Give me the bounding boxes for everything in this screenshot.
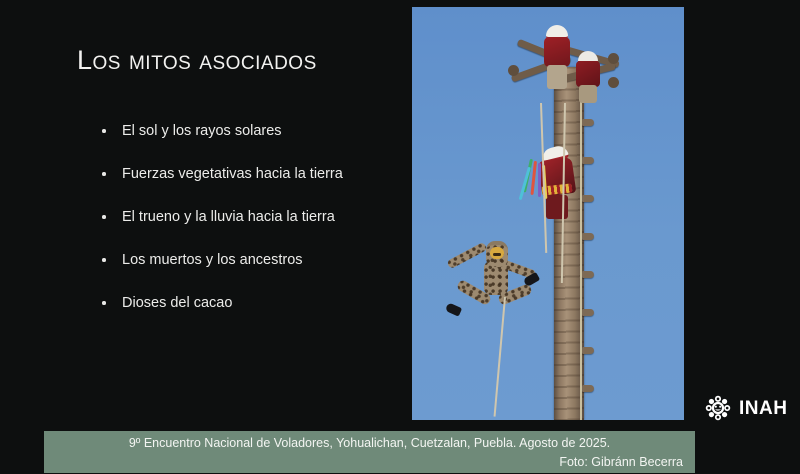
pole-guide-rope [580,77,582,420]
list-item-label: El sol y los rayos solares [122,123,282,139]
volador-legs [547,65,567,89]
list-item-label: El trueno y la lluvia hacia la tierra [122,209,335,225]
volador-second-figure [574,51,604,103]
frame-corner [608,53,619,64]
pole-nub [582,309,594,316]
list-item: Dioses del cacao [98,294,398,312]
page-title: Los mitos asociados [77,45,317,76]
pole-nub [582,347,594,354]
volador-torso [576,61,600,87]
bullet-dot-icon [102,215,106,219]
inah-logo: INAH [704,394,787,422]
costume-ribbon [530,161,536,195]
performer-mask [490,247,504,259]
inah-wordmark: INAH [739,399,787,418]
inah-glyph-icon [704,394,732,422]
pole-nub [582,157,594,164]
slide-photograph [412,7,684,420]
volador-torso [544,37,570,67]
bullet-dot-icon [102,129,106,133]
costume-ribbon [538,163,541,197]
performer-arm-left [446,242,487,270]
presentation-slide: Los mitos asociados El sol y los rayos s… [0,0,800,474]
bullet-dot-icon [102,301,106,305]
list-item-label: Fuerzas vegetativas hacia la tierra [122,166,343,182]
list-item: El sol y los rayos solares [98,122,398,140]
frame-corner [608,77,619,88]
photo-caption-bar: 9º Encuentro Nacional de Voladores, Yohu… [44,431,695,473]
caption-line-credit: Foto: Gibránn Becerra [56,453,683,472]
pole-nub [582,385,594,392]
volador-legs [546,195,568,219]
jaguar-costume-performer [440,231,536,327]
pole-nub [582,119,594,126]
volador-top-figure [540,25,576,89]
frame-corner [508,65,519,76]
pole-nub [582,271,594,278]
performer-shoe [445,302,462,316]
list-item-label: Dioses del cacao [122,295,232,311]
list-item: Los muertos y los ancestros [98,251,398,269]
volador-middle-figure [524,147,582,219]
bullet-dot-icon [102,258,106,262]
list-item: El trueno y la lluvia hacia la tierra [98,208,398,226]
bullet-list: El sol y los rayos solares Fuerzas veget… [98,122,398,337]
pole-nub [582,233,594,240]
list-item: Fuerzas vegetativas hacia la tierra [98,165,398,183]
volador-legs [579,85,597,103]
bullet-dot-icon [102,172,106,176]
list-item-label: Los muertos y los ancestros [122,252,303,268]
caption-line-primary: 9º Encuentro Nacional de Voladores, Yohu… [56,434,683,453]
pole-nub [582,195,594,202]
